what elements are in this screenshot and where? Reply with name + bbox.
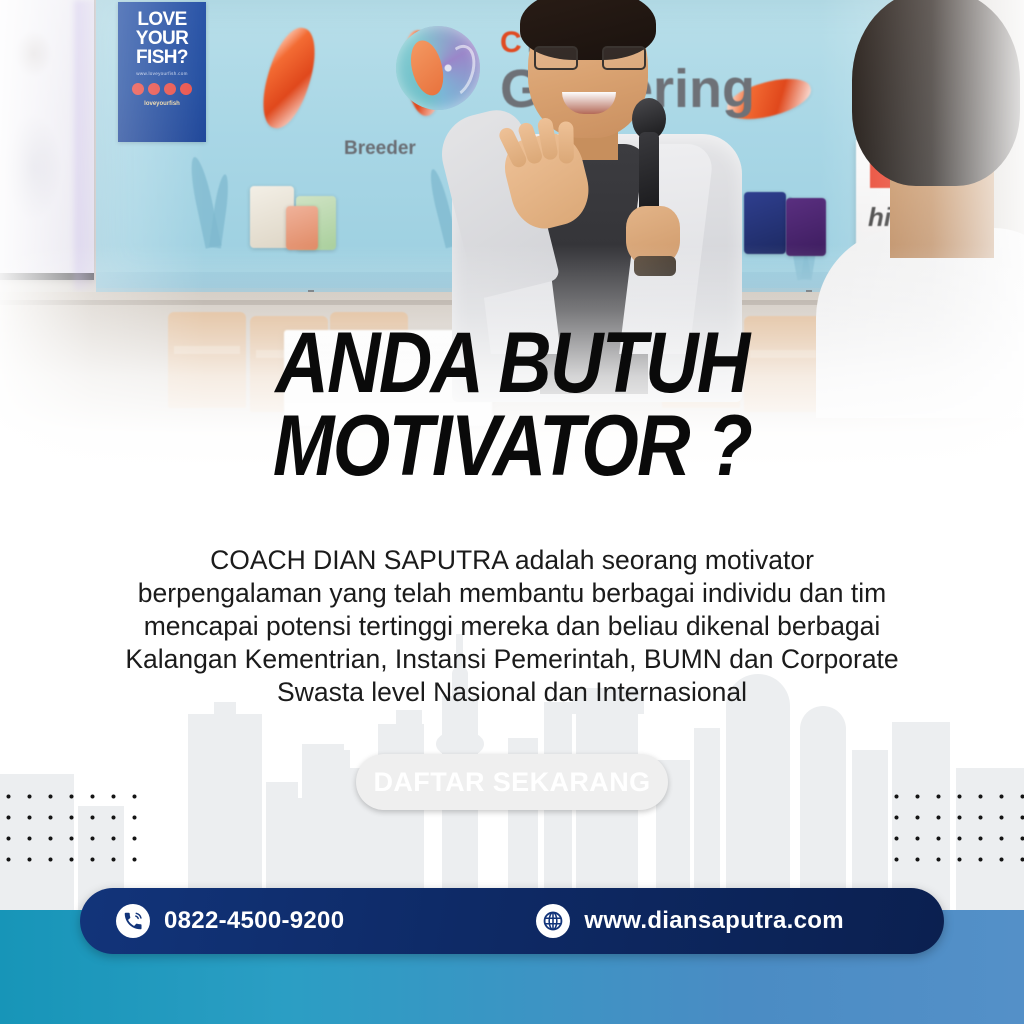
promotional-poster: CTINDO Gathering Breeder Training LOVE Y… xyxy=(0,0,1024,1024)
building xyxy=(332,750,350,910)
dot-pattern-right xyxy=(882,782,1024,866)
description-paragraph: COACH DIAN SAPUTRA adalah seorang motiva… xyxy=(120,544,904,709)
curved-tower xyxy=(726,674,790,910)
curved-tower xyxy=(800,706,846,910)
headline-line-2: MOTIVATOR ? xyxy=(72,405,953,488)
footer-bar: 0822-4500-9200 www.diansaputra.com xyxy=(0,910,1024,1024)
headline-line-1: ANDA BUTUH xyxy=(72,322,953,405)
building-spire xyxy=(214,702,236,910)
building xyxy=(396,710,422,910)
phone-number: 0822-4500-9200 xyxy=(164,907,344,935)
dot-pattern-left xyxy=(0,782,142,866)
contact-phone[interactable]: 0822-4500-9200 xyxy=(116,904,344,938)
contact-website[interactable]: www.diansaputra.com xyxy=(536,904,844,938)
building xyxy=(576,714,638,910)
globe-icon xyxy=(536,904,570,938)
daftar-sekarang-button[interactable]: DAFTAR SEKARANG xyxy=(356,754,668,810)
building xyxy=(694,728,720,910)
page-title: ANDA BUTUH MOTIVATOR ? xyxy=(0,322,1024,487)
phone-icon xyxy=(116,904,150,938)
contact-pill: 0822-4500-9200 www.diansaputra.com xyxy=(80,888,944,954)
website-url: www.diansaputra.com xyxy=(584,907,844,935)
